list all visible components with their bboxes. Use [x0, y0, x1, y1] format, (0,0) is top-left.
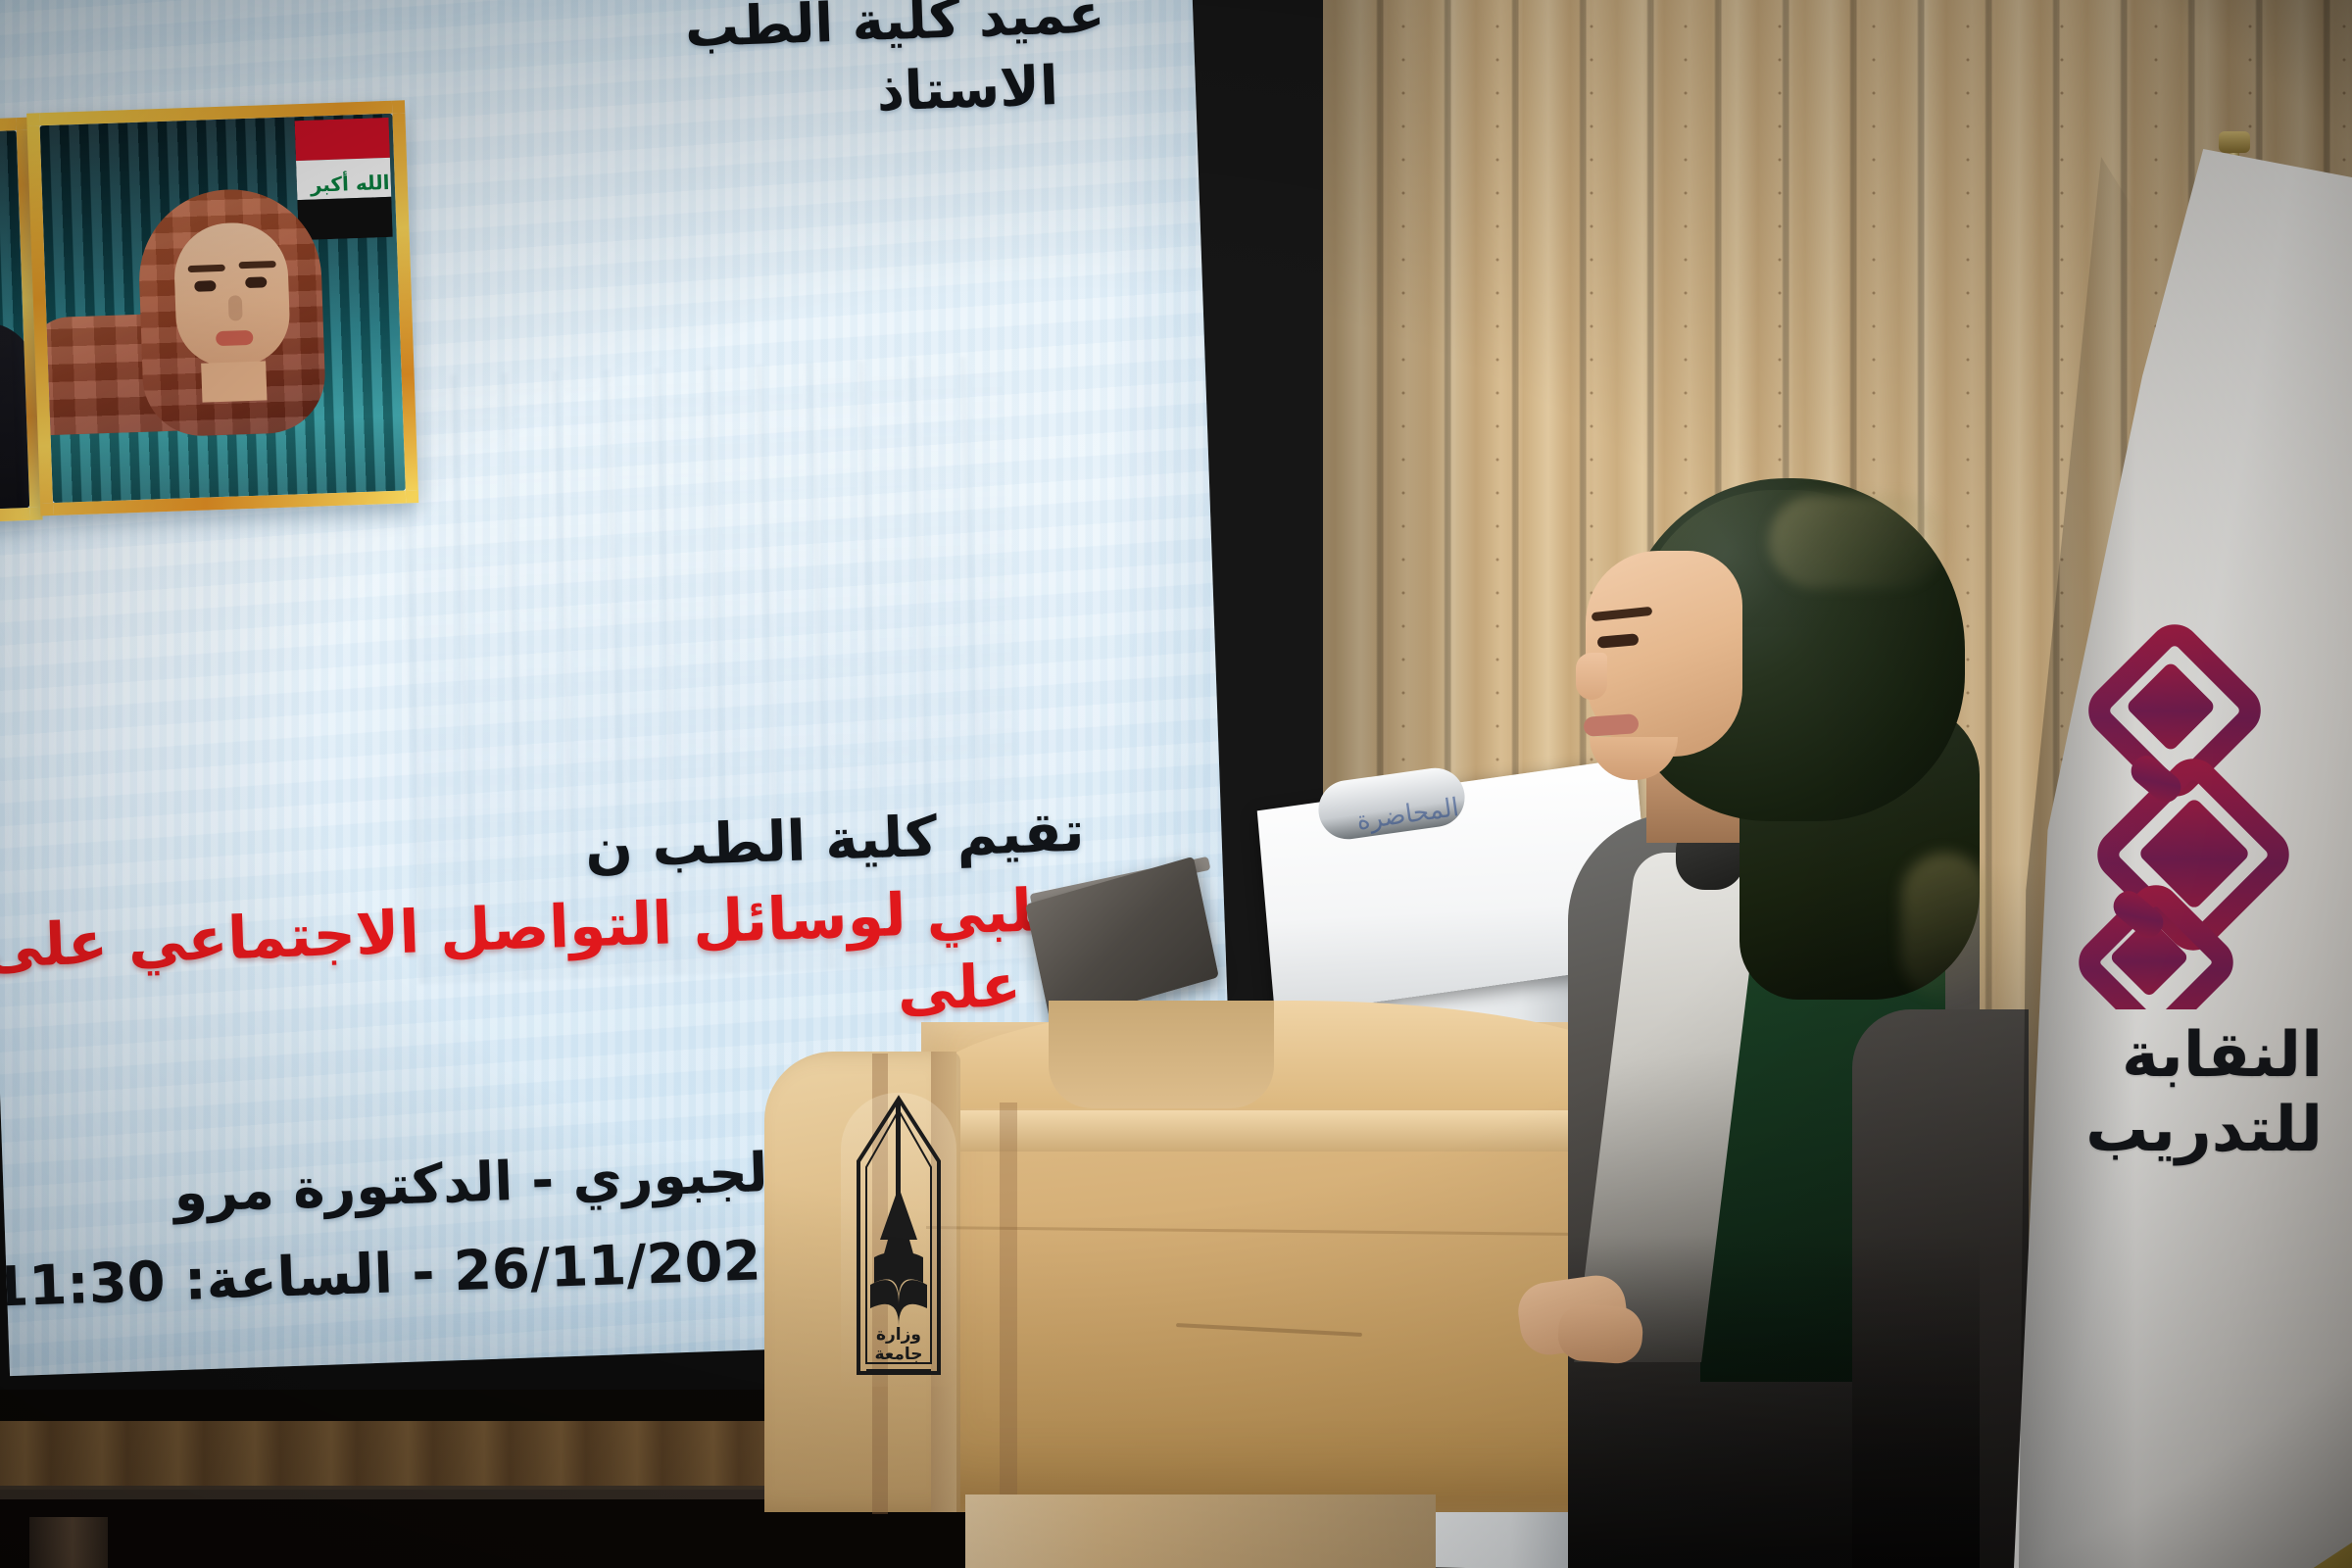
slide-header-line-2: عميد كلية الطب — [684, 0, 1105, 59]
speaker-hijab-drape-sheen — [1901, 853, 1989, 1000]
speaker-hijab-sheen — [1769, 495, 1945, 588]
flag-pole-finial-base — [2219, 131, 2250, 153]
speaker-hand-right — [1556, 1302, 1644, 1365]
portrait-brow-right — [239, 261, 276, 269]
stage-floor-object — [29, 1517, 108, 1568]
podium-inlay-stripe-2 — [1000, 1102, 1017, 1514]
portrait-face — [172, 221, 291, 368]
banner-line-2: للتدريب — [2029, 1094, 2323, 1168]
banner-line-1: النقابة — [2029, 1019, 2323, 1094]
syndicate-diamond-logo-icon — [2078, 617, 2313, 1009]
flag-stripe-red — [295, 118, 390, 161]
flag-takbir-text: الله أكبر — [310, 171, 390, 197]
photo-scene: بياء (ع عميد كلية الطب الاستاذ الله أكبر — [0, 0, 2352, 1568]
portrait-nose — [228, 295, 243, 320]
speaker-lips — [1583, 713, 1639, 737]
portrait-head — [136, 186, 327, 437]
slide-portrait-main: الله أكبر — [26, 100, 418, 515]
slide-header-line-3: الاستاذ — [876, 54, 1059, 122]
portrait-neck — [201, 361, 267, 402]
podium-notch — [1049, 1001, 1274, 1108]
portrait-figure-silhouette — [0, 321, 40, 521]
svg-text:جامعة: جامعة — [874, 1345, 922, 1364]
podium-column-shading — [965, 1494, 1436, 1568]
portrait-lips — [216, 330, 254, 346]
university-emblem: وزارة جامعة — [841, 1093, 956, 1387]
speaker-person — [1529, 461, 2038, 1568]
svg-text:وزارة: وزارة — [876, 1325, 921, 1345]
banner-text-block: النقابة للتدريب — [2029, 1019, 2323, 1167]
portrait-eye-left — [194, 280, 216, 292]
speaker-nose — [1576, 653, 1607, 700]
slide-body-line-1: تقيم كلية الطب ن — [584, 800, 1086, 882]
portrait-brow-left — [188, 265, 225, 272]
portrait-eye-right — [245, 276, 267, 288]
